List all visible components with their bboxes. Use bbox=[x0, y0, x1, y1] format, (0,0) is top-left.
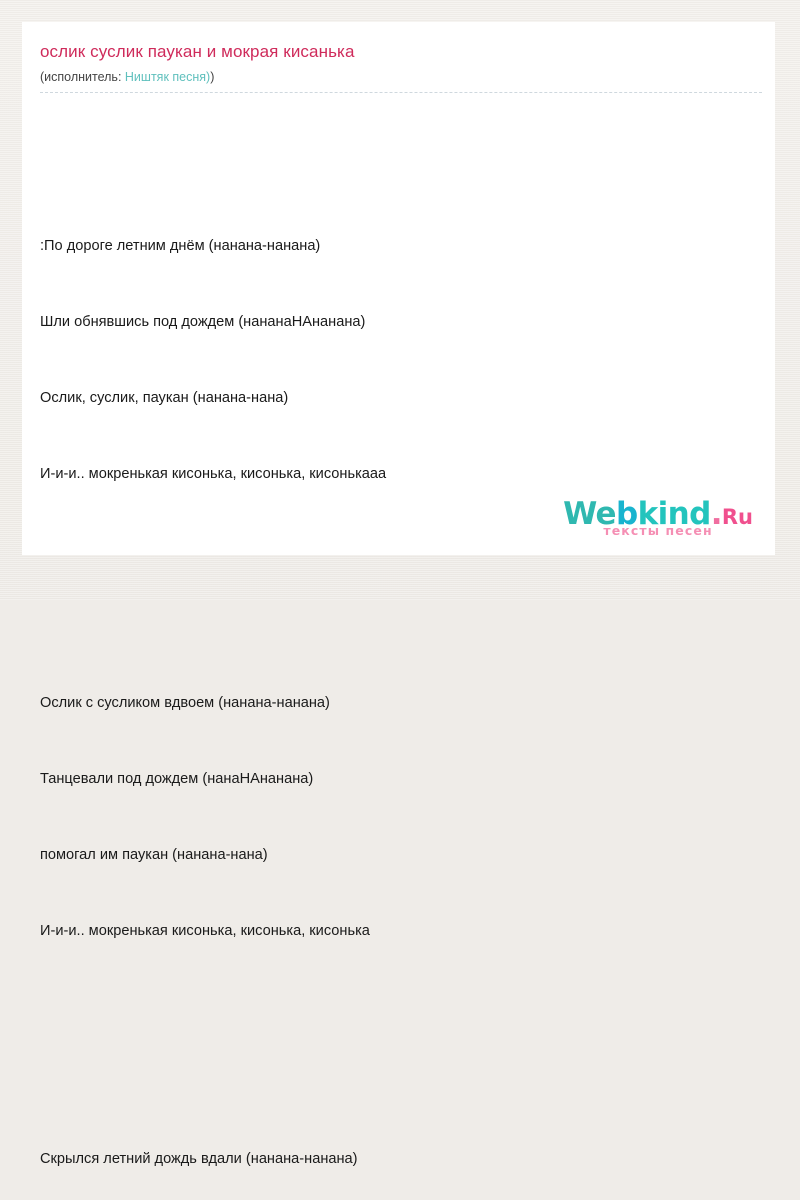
lyric-line: :По дороге летним днём (нанана-нанана) bbox=[40, 234, 757, 259]
lyrics-stanza: :По дороге летним днём (нанана-нанана) Ш… bbox=[40, 183, 757, 539]
lyric-line: Шли обнявшись под дождем (нананаНАнанана… bbox=[40, 310, 757, 335]
lyrics-stanza: Скрылся летний дождь вдали (нанана-нанан… bbox=[40, 1097, 757, 1200]
artist-line: (исполнитель: Ништяк песня)) bbox=[40, 69, 757, 85]
lyric-line: Скрылся летний дождь вдали (нанана-нанан… bbox=[40, 1147, 757, 1172]
site-logo[interactable]: Webkind.Ru тексты песен bbox=[563, 499, 753, 538]
card-inner: ослик суслик паукан и мокрая кисанька (и… bbox=[22, 22, 775, 1200]
logo-part-ru: Ru bbox=[722, 505, 753, 529]
artist-suffix-label: ) bbox=[210, 70, 214, 84]
page-title: ослик суслик паукан и мокрая кисанька bbox=[40, 42, 757, 62]
lyrics-stanza: Ослик с сусликом вдвоем (нанана-нанана) … bbox=[40, 640, 757, 996]
lyric-line: И-и-и.. мокренькая кисонька, кисонька, к… bbox=[40, 462, 757, 487]
header-divider bbox=[40, 92, 762, 93]
lyric-line: Ослик с сусликом вдвоем (нанана-нанана) bbox=[40, 691, 757, 716]
artist-prefix-label: (исполнитель: bbox=[40, 70, 125, 84]
lyric-line: Ослик, суслик, паукан (нанана-нана) bbox=[40, 386, 757, 411]
lyric-line: И-и-и.. мокренькая кисонька, кисонька, к… bbox=[40, 919, 757, 944]
lyrics-content-card: ослик суслик паукан и мокрая кисанька (и… bbox=[22, 22, 775, 555]
lyric-line: помогал им паукан (нанана-нана) bbox=[40, 843, 757, 868]
lyric-line: Танцевали под дождем (нанаНАнанана) bbox=[40, 767, 757, 792]
artist-link[interactable]: Ништяк песня) bbox=[125, 70, 210, 84]
lyrics-body: :По дороге летним днём (нанана-нанана) Ш… bbox=[40, 107, 757, 1200]
